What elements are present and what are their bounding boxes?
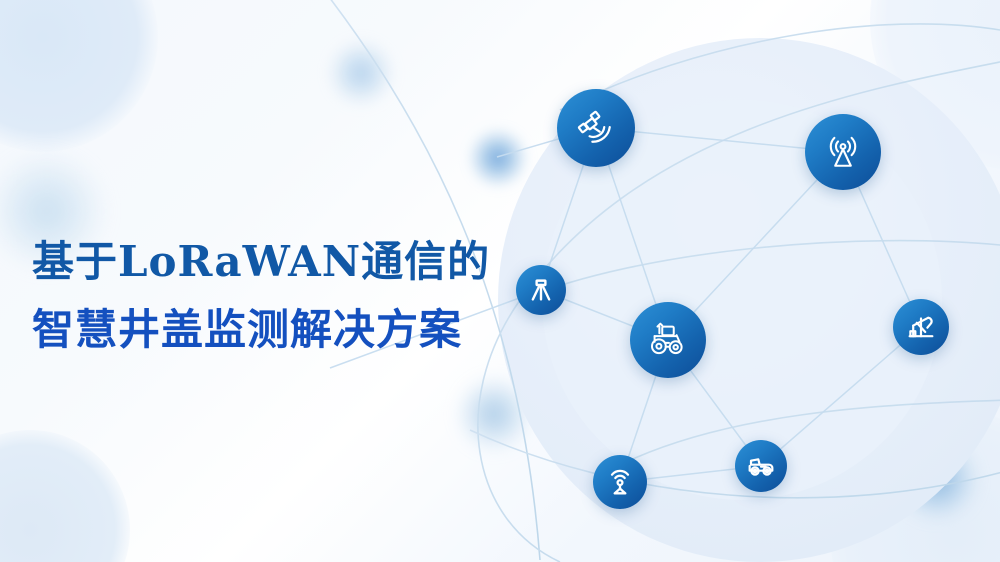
node-satellite[interactable] — [557, 89, 635, 167]
survey-tripod-icon — [526, 275, 556, 305]
slide-title: 基于LoRaWAN通信的 智慧井盖监测解决方案 — [32, 228, 592, 364]
machinery-icon — [745, 450, 777, 482]
presentation-slide: 基于LoRaWAN通信的 智慧井盖监测解决方案 — [0, 0, 1000, 562]
node-antenna[interactable] — [805, 114, 881, 190]
node-tripod[interactable] — [516, 265, 566, 315]
node-oilpump[interactable] — [893, 299, 949, 355]
node-machinery[interactable] — [735, 440, 787, 492]
wireless-sensor-icon — [604, 466, 636, 498]
tractor-icon — [645, 317, 691, 363]
node-tractor[interactable] — [630, 302, 706, 378]
satellite-icon — [574, 106, 618, 150]
title-line-2: 智慧井盖监测解决方案 — [32, 296, 592, 364]
radio-tower-icon — [821, 130, 865, 174]
node-sensor[interactable] — [593, 455, 647, 509]
oil-pumpjack-icon — [904, 310, 938, 344]
title-line-1: 基于LoRaWAN通信的 — [32, 228, 592, 296]
